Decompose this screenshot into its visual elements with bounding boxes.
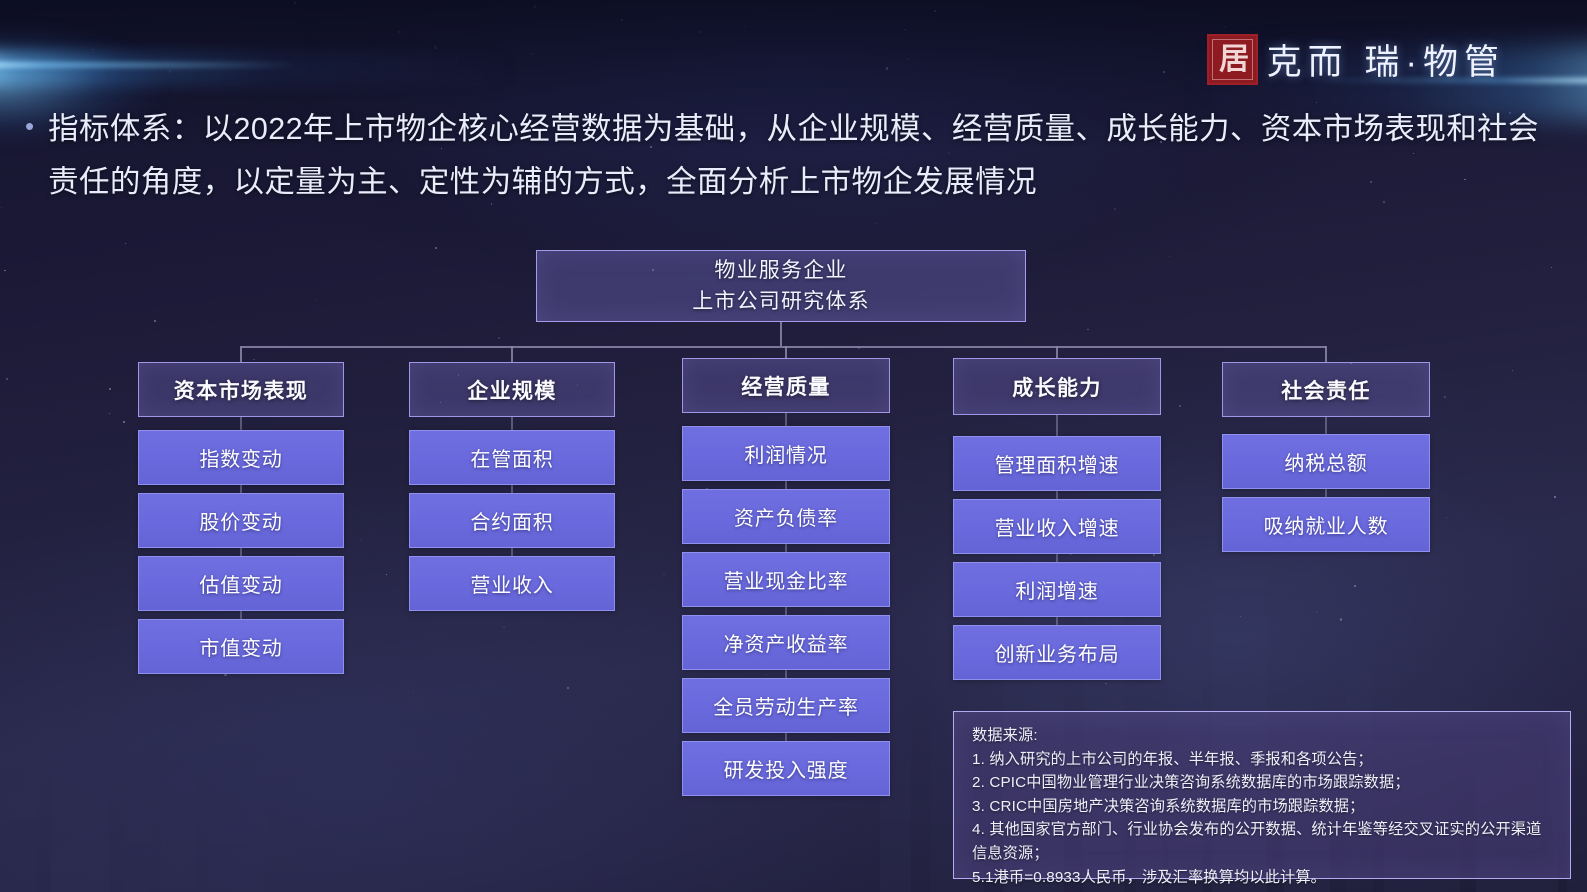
category-header-3[interactable]: 经营质量 xyxy=(682,358,890,413)
seal-character: 居 xyxy=(1209,36,1256,83)
tree-item-label: 全员劳动生产率 xyxy=(713,691,859,720)
tree-item[interactable]: 营业收入 xyxy=(409,556,615,611)
category-header-label: 成长能力 xyxy=(1012,372,1102,402)
tree-item-label: 管理面积增速 xyxy=(995,449,1120,478)
tree-item-label: 创新业务布局 xyxy=(995,638,1120,667)
tree-item-label: 纳税总额 xyxy=(1284,447,1367,476)
category-header-label: 企业规模 xyxy=(467,375,557,405)
category-header-2[interactable]: 企业规模 xyxy=(409,362,615,417)
tree-item[interactable]: 市值变动 xyxy=(138,619,344,674)
tree-item-label: 合约面积 xyxy=(470,506,553,535)
tree-connector-root-stem xyxy=(780,322,782,346)
tree-item-label: 利润情况 xyxy=(744,439,827,468)
bullet-icon: • xyxy=(25,103,34,149)
tree-item-label: 吸纳就业人数 xyxy=(1264,510,1389,539)
red-seal-stamp-icon: 居 xyxy=(1207,34,1258,85)
tree-item-label: 净资产收益率 xyxy=(724,628,849,657)
tree-item[interactable]: 资产负债率 xyxy=(682,489,890,544)
category-header-label: 资本市场表现 xyxy=(174,375,308,405)
note-line: 5.1港币=0.8933人民币，涉及汇率换算均以此计算。 xyxy=(972,866,1554,890)
category-header-label: 社会责任 xyxy=(1281,375,1371,405)
tree-item[interactable]: 估值变动 xyxy=(138,556,344,611)
tree-item-label: 指数变动 xyxy=(199,443,282,472)
tree-item[interactable]: 营业收入增速 xyxy=(953,499,1161,554)
slide-canvas: 居 克而 瑞·物管 • 指标体系：以2022年上市物企核心经营数据为基础，从企业… xyxy=(0,0,1587,892)
tree-connector-bus xyxy=(241,346,1326,348)
note-line: 3. CRIC中国房地产决策咨询系统数据库的市场跟踪数据； xyxy=(972,795,1554,819)
data-source-note: 数据来源: 1. 纳入研究的上市公司的年报、半年报、季报和各项公告； 2. CP… xyxy=(953,711,1571,879)
tree-item[interactable]: 研发投入强度 xyxy=(682,741,890,796)
tree-connector xyxy=(785,346,787,358)
tree-item[interactable]: 创新业务布局 xyxy=(953,625,1161,680)
tree-item[interactable]: 营业现金比率 xyxy=(682,552,890,607)
tree-item[interactable]: 管理面积增速 xyxy=(953,436,1161,491)
tree-root-node[interactable]: 物业服务企业 上市公司研究体系 xyxy=(536,250,1026,322)
tree-root-line2: 上市公司研究体系 xyxy=(692,288,870,315)
tree-item[interactable]: 利润增速 xyxy=(953,562,1161,617)
tree-item[interactable]: 吸纳就业人数 xyxy=(1222,497,1430,552)
category-header-1[interactable]: 资本市场表现 xyxy=(138,362,344,417)
tree-item-label: 研发投入强度 xyxy=(724,754,849,783)
category-header-4[interactable]: 成长能力 xyxy=(953,358,1161,415)
tree-item-label: 营业收入 xyxy=(470,569,553,598)
note-line: 1. 纳入研究的上市公司的年报、半年报、季报和各项公告； xyxy=(972,748,1554,772)
note-line: 2. CPIC中国物业管理行业决策咨询系统数据库的市场跟踪数据； xyxy=(972,771,1554,795)
tree-item-label: 资产负债率 xyxy=(734,502,838,531)
tree-connector xyxy=(1325,346,1327,362)
category-header-label: 经营质量 xyxy=(741,371,831,401)
note-title: 数据来源: xyxy=(972,724,1554,748)
page-heading: • 指标体系：以2022年上市物企核心经营数据为基础，从企业规模、经营质量、成长… xyxy=(22,103,1542,209)
tree-connector xyxy=(511,346,513,362)
tree-item-label: 估值变动 xyxy=(199,569,282,598)
brand-logo: 居 克而 瑞·物管 xyxy=(1207,34,1505,85)
tree-item-label: 营业现金比率 xyxy=(724,565,849,594)
tree-item[interactable]: 利润情况 xyxy=(682,426,890,481)
tree-item[interactable]: 净资产收益率 xyxy=(682,615,890,670)
tree-item[interactable]: 指数变动 xyxy=(138,430,344,485)
tree-connector xyxy=(240,346,242,362)
category-header-5[interactable]: 社会责任 xyxy=(1222,362,1430,417)
tree-item-label: 利润增速 xyxy=(1015,575,1098,604)
tree-item-label: 市值变动 xyxy=(199,632,282,661)
tree-item-label: 股价变动 xyxy=(199,506,282,535)
tree-item[interactable]: 纳税总额 xyxy=(1222,434,1430,489)
note-line: 4. 其他国家官方部门、行业协会发布的公开数据、统计年鉴等经交叉证实的公开渠道信… xyxy=(972,818,1554,865)
tree-item[interactable]: 全员劳动生产率 xyxy=(682,678,890,733)
tree-connector xyxy=(1056,346,1058,358)
tree-root-line1: 物业服务企业 xyxy=(714,257,847,284)
tree-item[interactable]: 在管面积 xyxy=(409,430,615,485)
heading-text: 指标体系：以2022年上市物企核心经营数据为基础，从企业规模、经营质量、成长能力… xyxy=(48,103,1542,209)
tree-item-label: 营业收入增速 xyxy=(995,512,1120,541)
tree-item[interactable]: 股价变动 xyxy=(138,493,344,548)
tree-item-label: 在管面积 xyxy=(470,443,553,472)
brand-name: 克而 瑞·物管 xyxy=(1267,34,1505,85)
tree-item[interactable]: 合约面积 xyxy=(409,493,615,548)
